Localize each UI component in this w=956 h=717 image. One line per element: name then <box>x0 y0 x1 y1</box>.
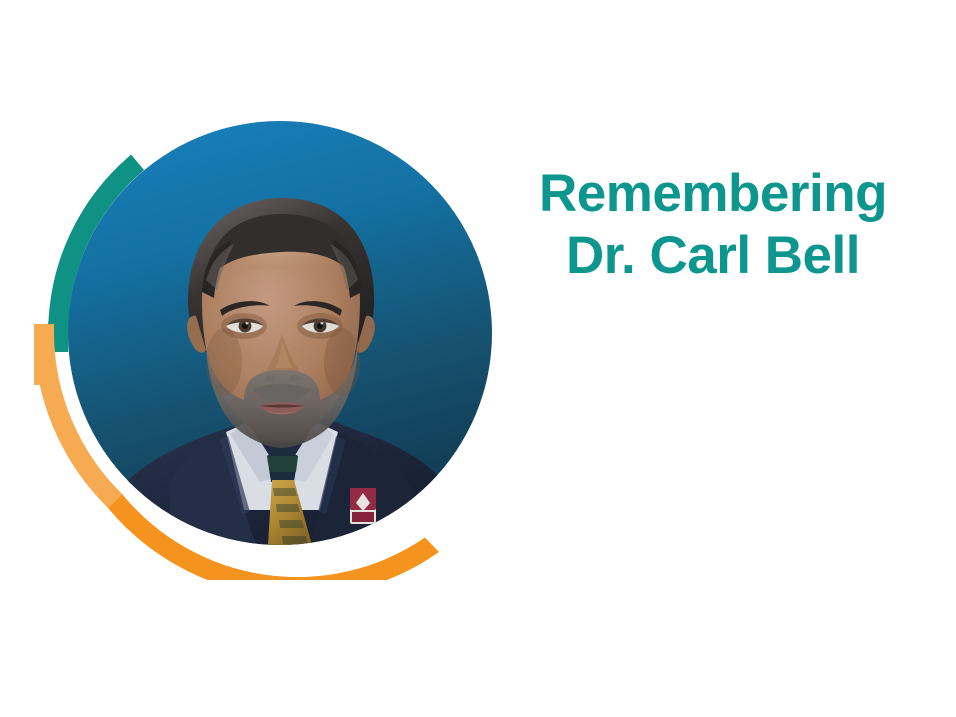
slide-canvas: Remembering Dr. Carl Bell <box>0 0 956 717</box>
portrait-photo <box>68 121 492 545</box>
portrait-medallion <box>20 110 510 580</box>
title-line-1: Remembering <box>470 163 956 225</box>
page-title: Remembering Dr. Carl Bell <box>470 163 956 287</box>
title-line-2: Dr. Carl Bell <box>470 225 956 287</box>
